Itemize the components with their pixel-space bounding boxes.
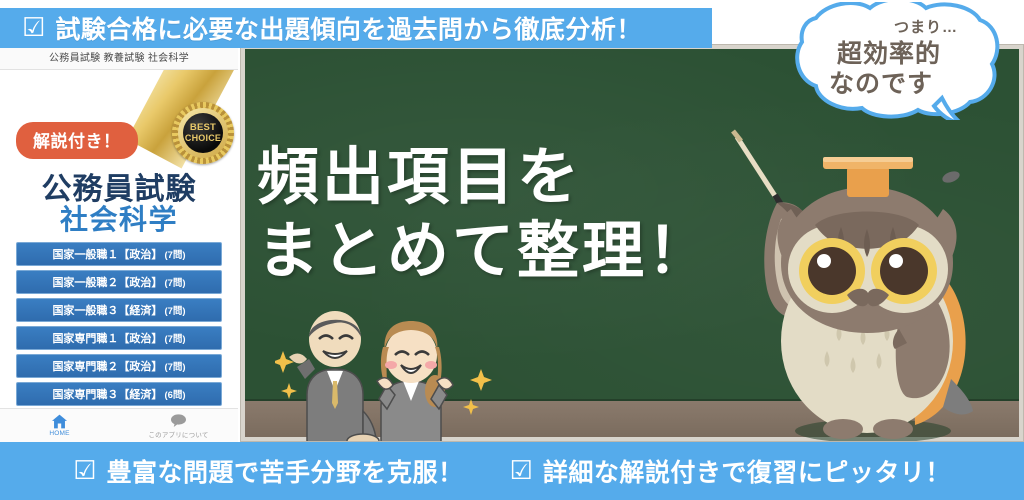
- top-banner: ☑ 試験合格に必要な出題傾向を過去問から徹底分析！: [0, 8, 712, 48]
- app-title: 公務員試験 教養試験 社会科学: [49, 49, 189, 64]
- two-students-character: [275, 299, 495, 442]
- quiz-menu-item[interactable]: 国家専門職３【経済】(6問): [16, 382, 222, 406]
- quiz-menu-item-count: (7問): [164, 331, 185, 345]
- bottom-banner-item-2: ☑ 詳細な解説付きで復習にピッタリ！: [510, 453, 951, 489]
- quiz-menu-item-label: 国家一般職１【政治】: [52, 246, 162, 262]
- blackboard-line-2: まとめて整理！: [257, 215, 712, 289]
- graduation-cap-icon: [823, 157, 913, 197]
- tab-about-app-label: このアプリについて: [148, 429, 208, 439]
- app-screenshot-panel: 公務員試験 教養試験 社会科学 BEST CHOICE 解説付き！ 公務員試験 …: [0, 44, 238, 442]
- checkbox-checked-icon: ☑: [22, 15, 45, 41]
- top-banner-text: 試験合格に必要な出題傾向を過去問から徹底分析！: [55, 10, 642, 46]
- quiz-menu-item-count: (7問): [164, 359, 185, 373]
- speech-bubble-icon: [170, 413, 187, 428]
- quiz-menu-item[interactable]: 国家一般職３【経済】(7問): [16, 298, 222, 322]
- male-student: [289, 311, 379, 442]
- bottom-banner-text-1: 豊富な問題で苦手分野を克服！: [106, 453, 463, 489]
- quiz-menu-item-count: (7問): [164, 303, 185, 317]
- pointer-stick: [733, 131, 785, 211]
- quiz-menu-item-label: 国家専門職３【経済】: [52, 386, 162, 402]
- speech-bubble: つまり… 超効率的 なのです: [792, 2, 1004, 120]
- app-sub-title: 社会科学: [0, 198, 238, 238]
- owl-professor-character: [715, 129, 1005, 442]
- quiz-menu-item-label: 国家専門職２【政治】: [52, 358, 162, 374]
- checkbox-checked-icon: ☑: [73, 458, 96, 484]
- quiz-menu-item-label: 国家専門職１【政治】: [52, 330, 162, 346]
- explanation-included-badge: 解説付き！: [16, 122, 138, 159]
- tab-home[interactable]: HOME: [0, 409, 119, 442]
- quiz-menu-item-label: 国家一般職２【政治】: [52, 274, 162, 290]
- speech-bubble-line-2: なのです: [792, 64, 1004, 100]
- quiz-menu-item-count: (7問): [164, 247, 185, 261]
- quiz-menu-item-label: 国家一般職３【経済】: [52, 302, 162, 318]
- app-content: BEST CHOICE 解説付き！ 公務員試験 社会科学 国家一般職１【政治】(…: [0, 70, 238, 408]
- badge-disc: BEST CHOICE: [183, 113, 223, 153]
- blackboard-line-1: 頻出項目を: [257, 141, 712, 215]
- quiz-menu-item-count: (6問): [164, 387, 185, 401]
- bottom-banner-text-2: 詳細な解説付きで復習にピッタリ！: [543, 453, 951, 489]
- quiz-menu-list: 国家一般職１【政治】(7問)国家一般職２【政治】(7問)国家一般職３【経済】(7…: [16, 242, 222, 408]
- promo-screenshot: ☑ 試験合格に必要な出題傾向を過去問から徹底分析！ 公務員試験 教養試験 社会科…: [0, 0, 1024, 500]
- quiz-menu-item[interactable]: 国家専門職１【政治】(7問): [16, 326, 222, 350]
- bottom-banner-item-1: ☑ 豊富な問題で苦手分野を克服！: [73, 453, 463, 489]
- badge-line-2: CHOICE: [185, 133, 221, 143]
- quiz-menu-item-count: (7問): [164, 275, 185, 289]
- bottom-banner: ☑ 豊富な問題で苦手分野を克服！ ☑ 詳細な解説付きで復習にピッタリ！: [0, 442, 1024, 500]
- blackboard-text: 頻出項目を まとめて整理！: [257, 141, 712, 289]
- quiz-menu-item[interactable]: 国家専門職２【政治】(7問): [16, 354, 222, 378]
- best-choice-badge: BEST CHOICE: [172, 102, 234, 164]
- female-student: [377, 321, 453, 442]
- app-bottom-tab-bar: HOME このアプリについて: [0, 408, 238, 442]
- tab-home-label: HOME: [49, 430, 69, 437]
- badge-line-1: BEST: [190, 123, 216, 133]
- quiz-menu-item[interactable]: 国家一般職１【政治】(7問): [16, 242, 222, 266]
- checkbox-checked-icon: ☑: [510, 458, 533, 484]
- tab-about-app[interactable]: このアプリについて: [119, 409, 238, 442]
- quiz-menu-item[interactable]: 国家一般職２【政治】(7問): [16, 270, 222, 294]
- home-icon: [51, 414, 68, 429]
